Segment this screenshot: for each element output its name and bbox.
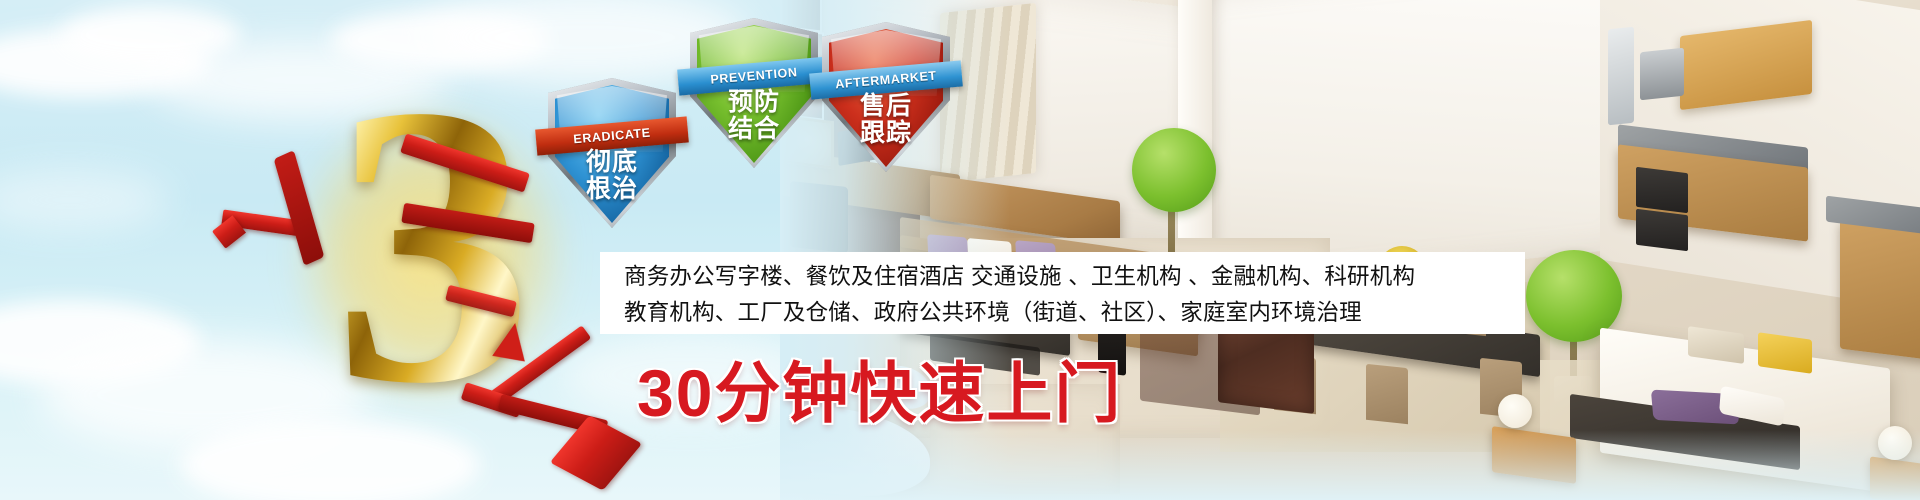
badge-chinese-line-1: 彻底 [548,149,676,176]
badge-english-label: PREVENTION [710,65,798,87]
badge-chinese-line-1: 售后 [822,93,950,120]
badge-eradicate[interactable]: ERADICATE 彻底 根治 [548,78,676,228]
badge-chinese-label: 彻底 根治 [548,149,676,203]
service-scope-line-2: 教育机构、工厂及仓储、政府公共环境（街道、社区）、家庭室内环境治理 [624,295,1525,331]
badge-english-label: AFTERMARKET [835,69,938,92]
badge-chinese-line-2: 跟踪 [822,120,950,147]
service-scope-line-1: 商务办公写字楼、餐饮及住宿酒店 交通设施 、卫生机构 、金融机构、科研机构 [624,259,1525,295]
badge-chinese-label: 预防 结合 [690,89,818,143]
badge-chinese-line-2: 结合 [690,116,818,143]
headline-text: 30分钟快速上门 [637,340,1122,436]
badge-chinese-label: 售后 跟踪 [822,93,950,147]
promo-banner: 3 ERADICATE 彻底 根治 PREVE [0,0,1920,500]
service-scope-panel: 商务办公写字楼、餐饮及住宿酒店 交通设施 、卫生机构 、金融机构、科研机构 教育… [600,252,1525,334]
badge-aftermarket[interactable]: AFTERMARKET 售后 跟踪 [822,22,950,172]
badge-chinese-line-2: 根治 [548,176,676,203]
badge-prevention[interactable]: PREVENTION 预防 结合 [690,18,818,168]
badge-english-label: ERADICATE [573,126,651,147]
red-ribbon-arrow [470,315,660,495]
badge-chinese-line-1: 预防 [690,89,818,116]
